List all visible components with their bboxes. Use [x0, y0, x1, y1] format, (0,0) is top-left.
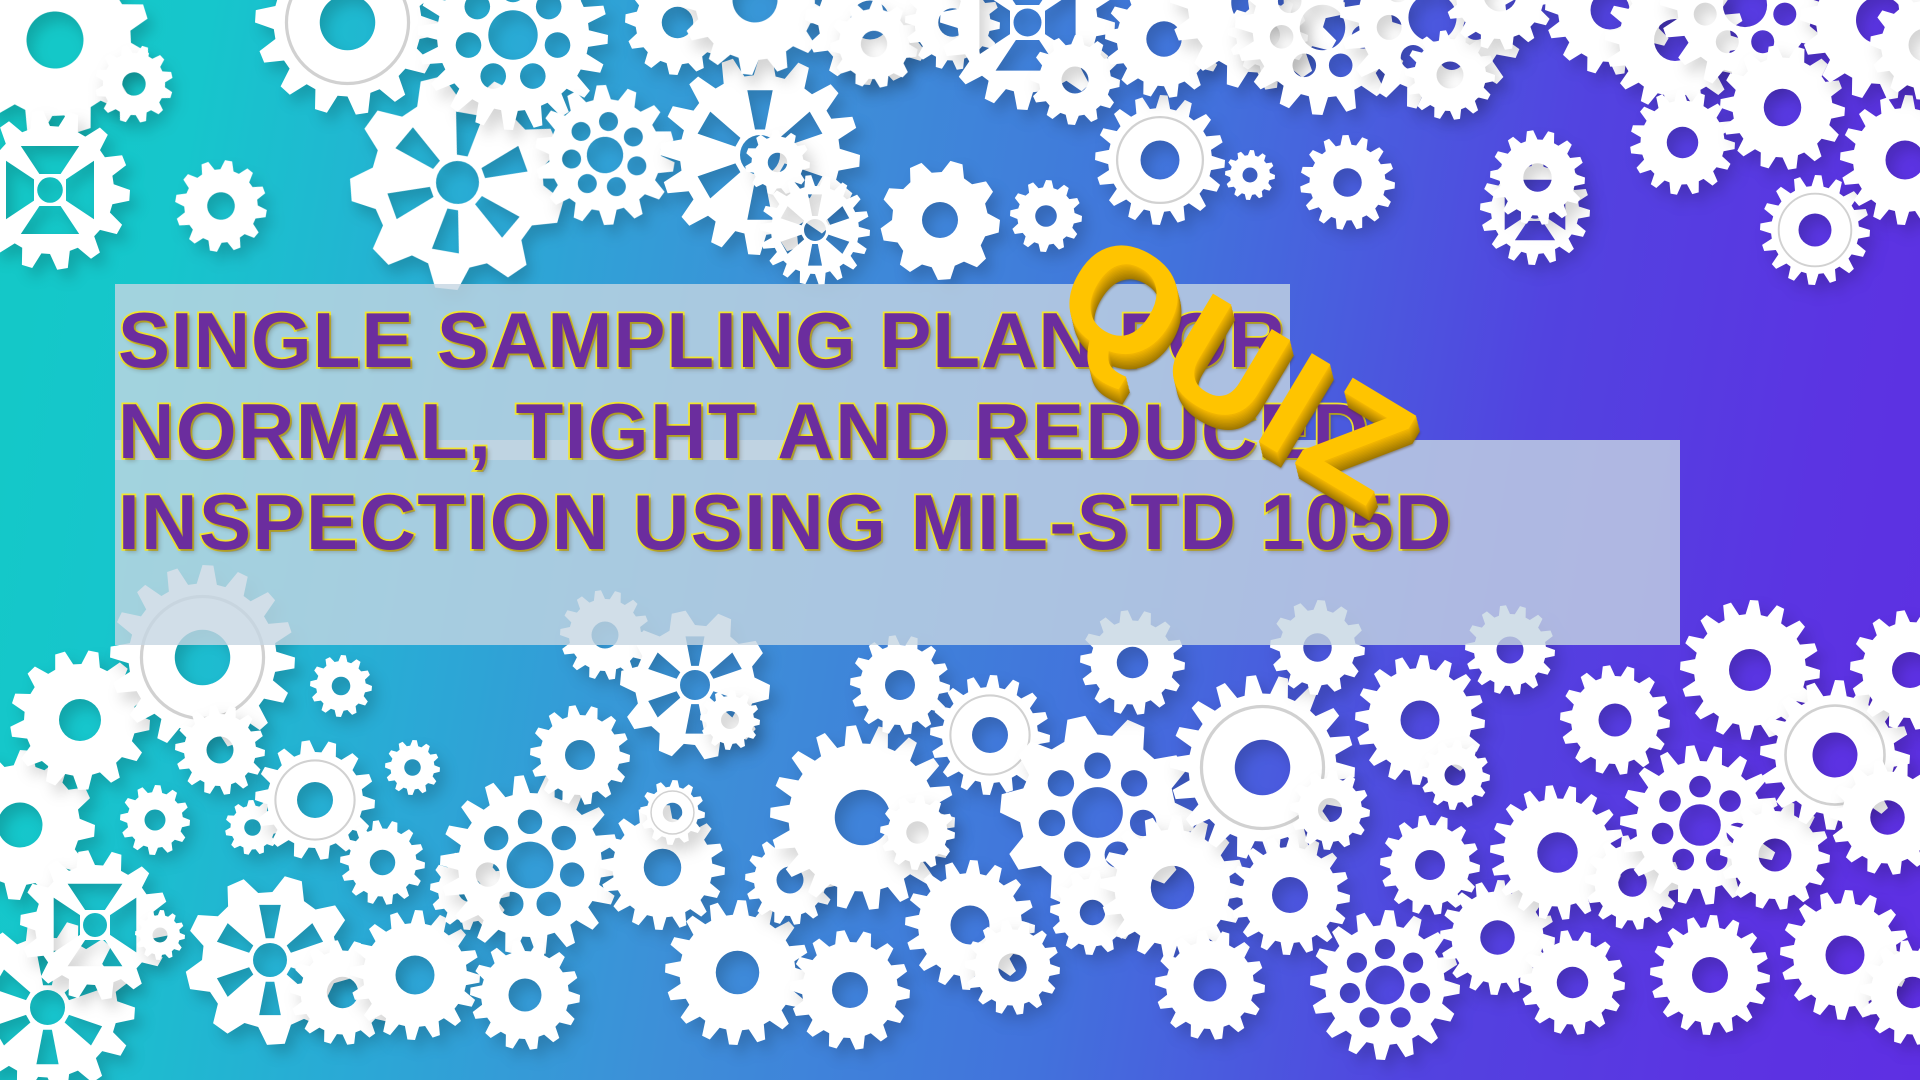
title-line-1: SINGLE SAMPLING PLAN FOR — [118, 294, 1698, 385]
page-title: SINGLE SAMPLING PLAN FOR NORMAL, TIGHT A… — [118, 294, 1698, 567]
title-slide: SINGLE SAMPLING PLAN FOR NORMAL, TIGHT A… — [0, 0, 1920, 1080]
title-line-3: INSPECTION USING MIL-STD 105D — [118, 476, 1698, 567]
title-line-2: NORMAL, TIGHT AND REDUCED — [118, 385, 1698, 476]
